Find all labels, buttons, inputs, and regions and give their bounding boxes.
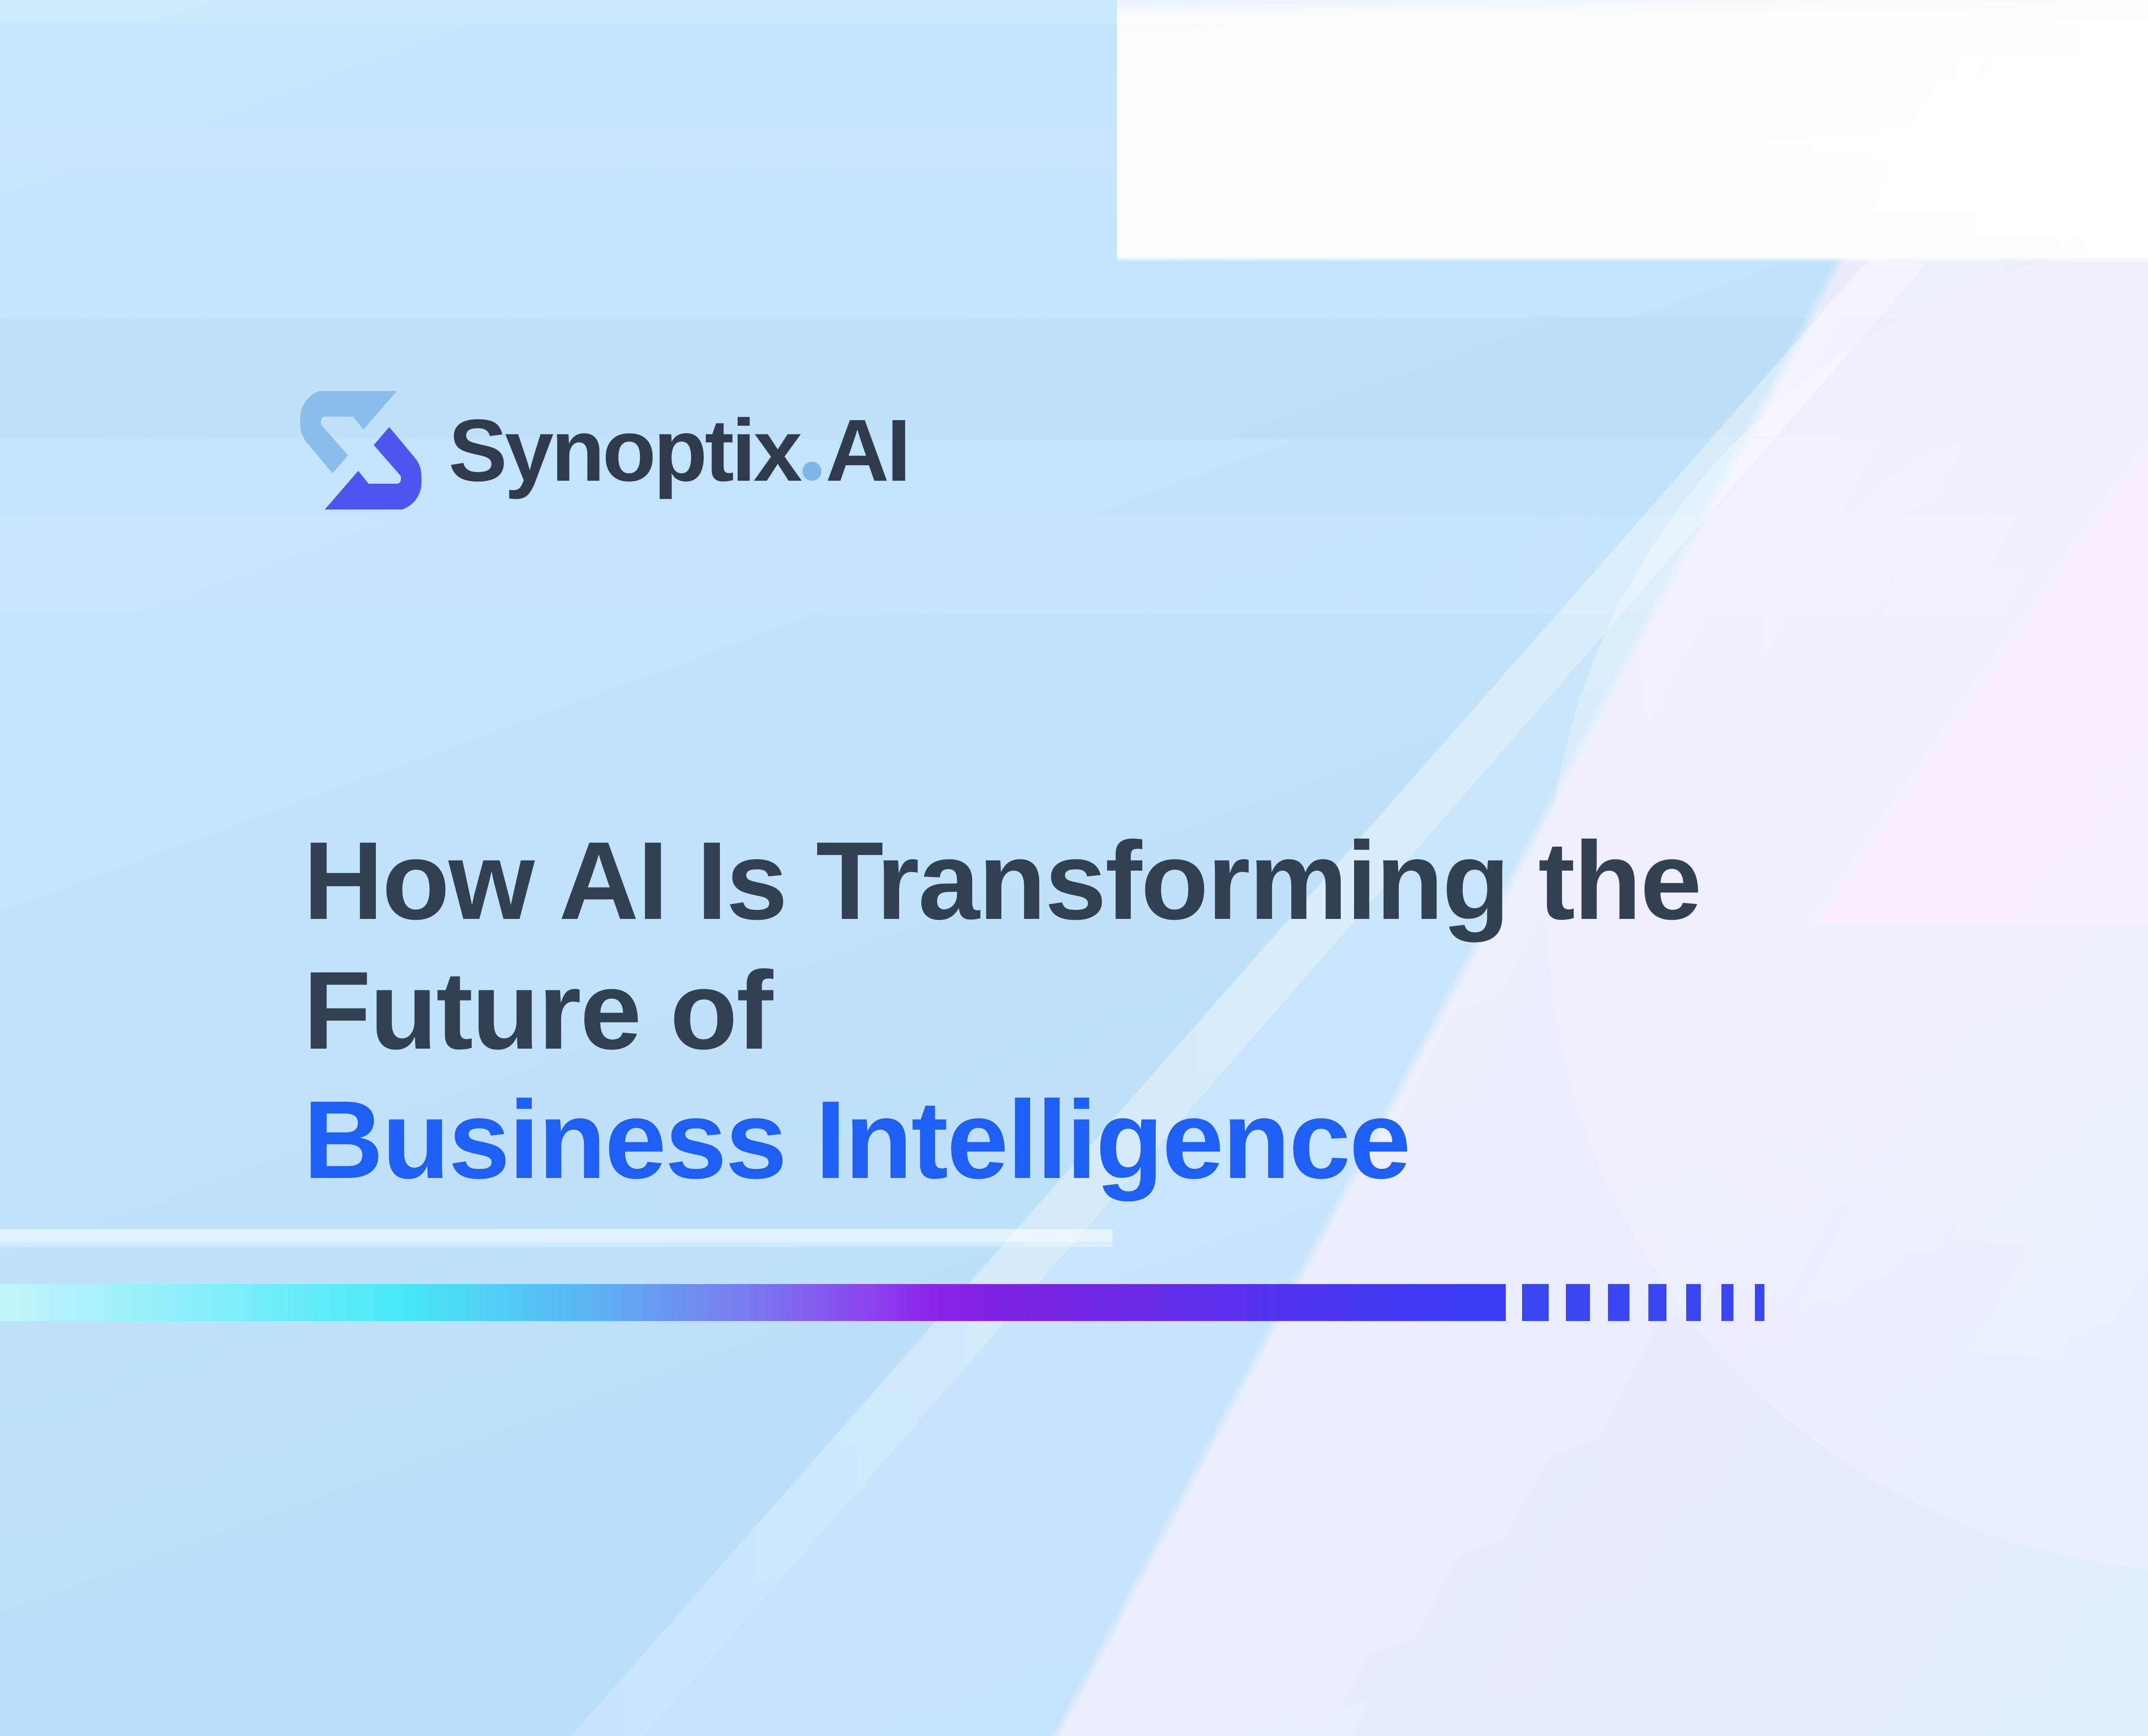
progress-dash — [1566, 1284, 1590, 1321]
headline-line-3-accent: Business Intelligence — [303, 1075, 2148, 1205]
progress-dash — [1755, 1284, 1764, 1321]
progress-dash — [1648, 1284, 1666, 1321]
progress-dash — [1721, 1284, 1733, 1321]
progress-dash — [1686, 1284, 1701, 1321]
headline-line-2: Future of — [303, 948, 772, 1072]
brand-wordmark: Synoptix AI — [449, 406, 909, 494]
progress-bar-dashes — [1506, 1284, 1764, 1321]
progress-dash — [1522, 1284, 1549, 1321]
brand-logo-lockup[interactable]: Synoptix AI — [296, 386, 909, 515]
synoptix-x-logo-icon — [296, 386, 425, 515]
wordmark-synoptix: Synoptix — [449, 406, 800, 494]
wordmark-dot-icon — [802, 462, 821, 481]
progress-dash — [1608, 1284, 1629, 1321]
wordmark-ai: AI — [826, 406, 909, 494]
gradient-progress-bar — [0, 1284, 1764, 1321]
page-title: How AI Is Transforming the Future of Bus… — [303, 686, 2148, 1334]
cover-canvas: Synoptix AI How AI Is Transforming the F… — [0, 0, 2148, 1736]
headline-line-1: How AI Is Transforming the — [303, 818, 1700, 943]
progress-bar-fill — [0, 1284, 1506, 1321]
